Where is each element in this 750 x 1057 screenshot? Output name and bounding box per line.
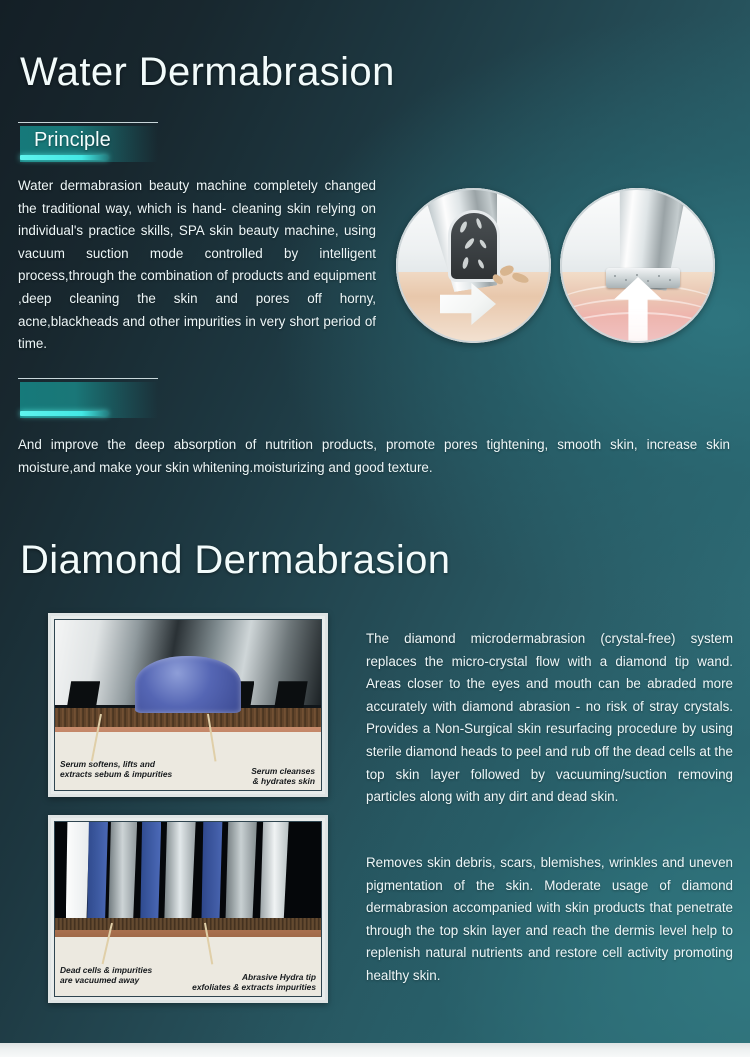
serum-diagram-art: Serum softens, lifts and extracts sebum … (54, 619, 322, 791)
paragraph-diamond-benefits: Removes skin debris, scars, blemishes, w… (366, 852, 733, 988)
product-feature-page: Water Dermabrasion Principle Water derma… (0, 0, 750, 1057)
serum-caption-left: Serum softens, lifts and extracts sebum … (60, 759, 172, 780)
paragraph-water-principle: Water dermabrasion beauty machine comple… (18, 175, 376, 356)
badge-secondary (18, 378, 158, 418)
dead-cell-layer (55, 918, 321, 930)
serum-spread-layer (119, 695, 257, 715)
badge-principle: Principle (18, 122, 158, 162)
vacuum-caption-left: Dead cells & impurities are vacuumed awa… (60, 965, 152, 986)
page-title-diamond-dermabrasion: Diamond Dermabrasion (20, 538, 450, 583)
badge-underline (20, 155, 108, 160)
vacuum-diagram: Dead cells & impurities are vacuumed awa… (48, 815, 328, 1003)
suction-aperture-icon (448, 210, 500, 282)
serum-caption-right: Serum cleanses & hydrates skin (251, 766, 315, 787)
page-title-water-dermabrasion: Water Dermabrasion (20, 50, 395, 95)
paragraph-diamond-system: The diamond microdermabrasion (crystal-f… (366, 628, 733, 809)
serum-diagram: Serum softens, lifts and extracts sebum … (48, 613, 328, 797)
badge-principle-label: Principle (34, 129, 111, 152)
skin-lift-circle (560, 188, 715, 343)
badge-underline (20, 411, 108, 416)
bottom-strip (0, 1043, 750, 1057)
vacuum-caption-right: Abrasive Hydra tip exfoliates & extracts… (192, 972, 316, 993)
vacuum-suction-circle (396, 188, 551, 343)
paragraph-water-benefits: And improve the deep absorption of nutri… (18, 434, 730, 479)
vacuum-diagram-art: Dead cells & impurities are vacuumed awa… (54, 821, 322, 997)
